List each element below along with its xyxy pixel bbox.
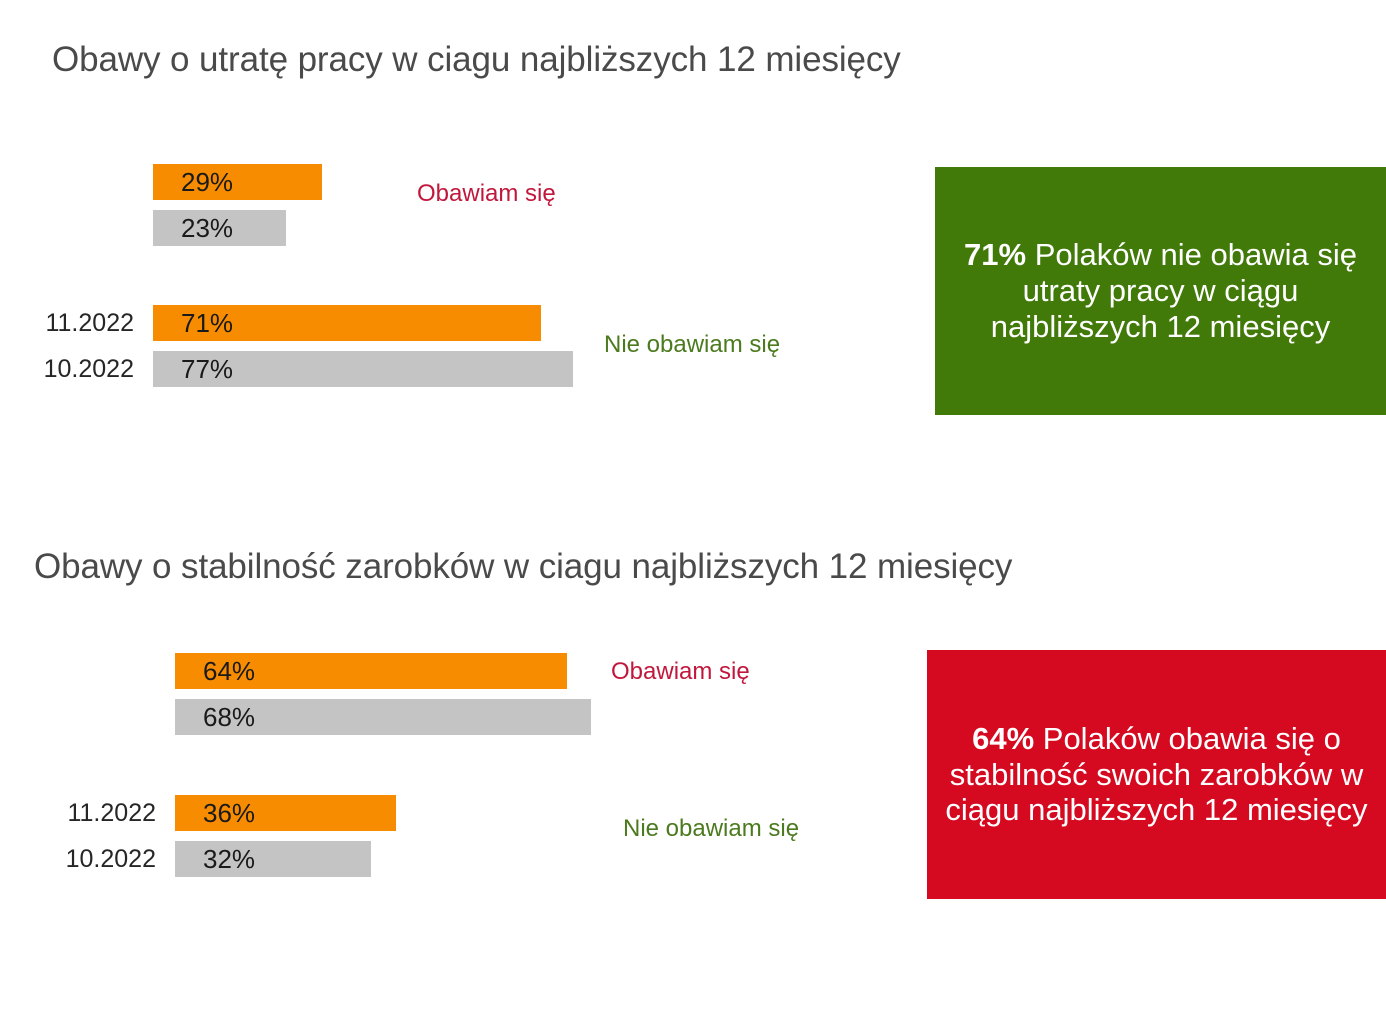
table-row: 64% [0,653,900,689]
axis-label-date-current: 11.2022 [0,305,134,341]
chart-job-loss: 29% 23% 11.2022 71% 10.2022 77% [0,150,900,400]
bar-value-label: 32% [175,846,255,872]
infographic-canvas: Obawy o utratę pracy w ciagu najbliższyc… [0,0,1386,1022]
callout-text: 64% Polaków obawia się o stabilność swoi… [943,721,1370,829]
bar-not-afraid-previous-wage-stability: 32% [175,841,371,877]
legend-item-not-afraid-job-loss: Nie obawiam się [604,333,780,357]
bar-afraid-previous-job-loss: 23% [153,210,286,246]
chart-wage-stability: 64% 68% 11.2022 36% 10.2022 32% [0,640,900,890]
bar-value-label: 77% [153,356,233,382]
bar-value-label: 23% [153,215,233,241]
callout-text: 71% Polaków nie obawia się utraty pracy … [951,237,1370,345]
bar-not-afraid-current-job-loss: 71% [153,305,541,341]
bar-afraid-current-job-loss: 29% [153,164,322,200]
callout-wage-stability: 64% Polaków obawia się o stabilność swoi… [927,650,1386,899]
page-title-wage-stability: Obawy o stabilność zarobków w ciagu najb… [34,547,1012,587]
bar-value-label: 68% [175,704,255,730]
bar-not-afraid-previous-job-loss: 77% [153,351,573,387]
callout-body-text: Polaków nie obawia się utraty pracy w ci… [991,237,1357,344]
table-row: 10.2022 32% [0,841,900,877]
table-row: 23% [0,210,900,246]
bar-value-label: 71% [153,310,233,336]
axis-label-date-current: 11.2022 [20,795,156,831]
bar-value-label: 29% [153,169,233,195]
axis-label-date-previous: 10.2022 [0,351,134,387]
bar-value-label: 64% [175,658,255,684]
table-row: 68% [0,699,900,735]
page-title-job-loss: Obawy o utratę pracy w ciagu najbliższyc… [52,40,901,80]
bar-not-afraid-current-wage-stability: 36% [175,795,396,831]
bar-value-label: 36% [175,800,255,826]
bar-afraid-previous-wage-stability: 68% [175,699,591,735]
callout-highlight-value: 71% [964,237,1026,272]
axis-label-date-previous: 10.2022 [20,841,156,877]
bar-afraid-current-wage-stability: 64% [175,653,567,689]
callout-highlight-value: 64% [972,721,1034,756]
legend-item-not-afraid-wage-stability: Nie obawiam się [623,817,799,841]
legend-item-afraid-job-loss: Obawiam się [417,182,556,206]
legend-item-afraid-wage-stability: Obawiam się [611,660,750,684]
callout-job-loss: 71% Polaków nie obawia się utraty pracy … [935,167,1386,415]
